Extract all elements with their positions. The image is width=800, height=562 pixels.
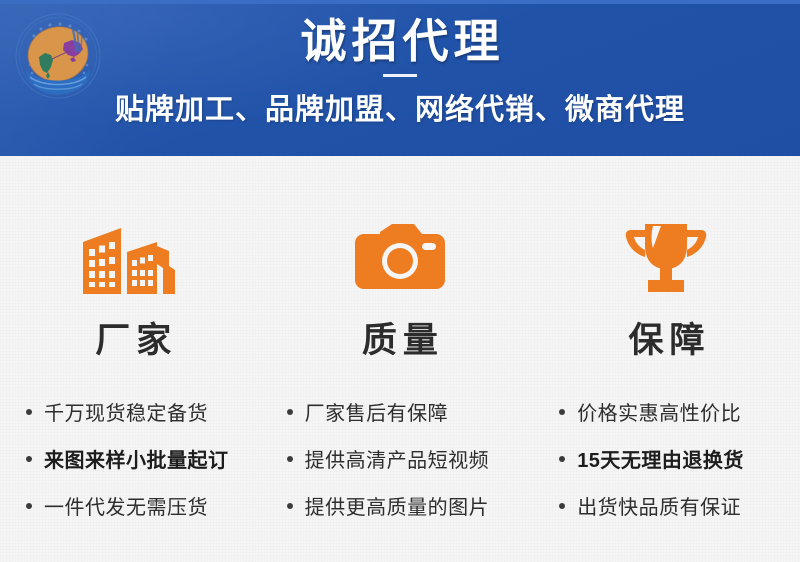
- factory-icon: [0, 218, 267, 298]
- bullet-dot-icon: [26, 456, 32, 462]
- page-subtitle: 贴牌加工、品牌加盟、网络代销、微商代理: [0, 86, 800, 128]
- camera-icon: [267, 218, 534, 298]
- title-divider: [383, 74, 417, 77]
- list-item-label: 来图来样小批量起订: [44, 444, 229, 473]
- list-item-label: 提供更高质量的图片: [305, 491, 490, 520]
- list-item-label: 千万现货稳定备货: [44, 397, 208, 426]
- feature-title-quality: 质量: [267, 312, 534, 363]
- list-item-label: 一件代发无需压货: [44, 491, 208, 520]
- feature-column-guarantee: 保障: [533, 218, 800, 363]
- feature-row: 厂家 质量: [0, 218, 800, 363]
- bullet-lists: 千万现货稳定备货 来图来样小批量起订 一件代发无需压货 厂家售后有保障: [0, 388, 800, 529]
- promo-page: 诚招代理 贴牌加工、品牌加盟、网络代销、微商代理: [0, 0, 800, 562]
- list-item-label: 厂家售后有保障: [305, 397, 449, 426]
- list-item: 提供高清产品短视频: [267, 435, 534, 482]
- list-item: 一件代发无需压货: [0, 482, 267, 529]
- page-title: 诚招代理: [0, 16, 800, 68]
- bullet-dot-icon: [26, 503, 32, 509]
- feature-column-quality: 质量: [267, 218, 534, 363]
- list-item-label: 价格实惠高性价比: [577, 397, 741, 426]
- list-item: 提供更高质量的图片: [267, 482, 534, 529]
- list-item-label: 提供高清产品短视频: [305, 444, 490, 473]
- list-item: 出货快品质有保证: [533, 482, 800, 529]
- list-item: 厂家售后有保障: [267, 388, 534, 435]
- trophy-icon: [533, 218, 800, 298]
- banner-text-block: 诚招代理 贴牌加工、品牌加盟、网络代销、微商代理: [0, 4, 800, 128]
- header-banner: 诚招代理 贴牌加工、品牌加盟、网络代销、微商代理: [0, 4, 800, 156]
- feature-title-guarantee: 保障: [533, 312, 800, 363]
- list-item-label: 15天无理由退换货: [577, 444, 744, 473]
- bullet-dot-icon: [26, 409, 32, 415]
- bullet-dot-icon: [559, 456, 565, 462]
- bullet-dot-icon: [287, 503, 293, 509]
- bullet-list-factory: 千万现货稳定备货 来图来样小批量起订 一件代发无需压货: [0, 388, 267, 529]
- bullet-dot-icon: [559, 409, 565, 415]
- content-area: 厂家 质量: [0, 156, 800, 562]
- list-item: 来图来样小批量起订: [0, 435, 267, 482]
- feature-column-factory: 厂家: [0, 218, 267, 363]
- feature-title-factory: 厂家: [0, 312, 267, 363]
- list-item: 千万现货稳定备货: [0, 388, 267, 435]
- bullet-list-guarantee: 价格实惠高性价比 15天无理由退换货 出货快品质有保证: [533, 388, 800, 529]
- list-item: 15天无理由退换货: [533, 435, 800, 482]
- list-item-label: 出货快品质有保证: [577, 491, 741, 520]
- bullet-dot-icon: [559, 503, 565, 509]
- list-item: 价格实惠高性价比: [533, 388, 800, 435]
- bullet-dot-icon: [287, 456, 293, 462]
- bullet-dot-icon: [287, 409, 293, 415]
- bullet-list-quality: 厂家售后有保障 提供高清产品短视频 提供更高质量的图片: [267, 388, 534, 529]
